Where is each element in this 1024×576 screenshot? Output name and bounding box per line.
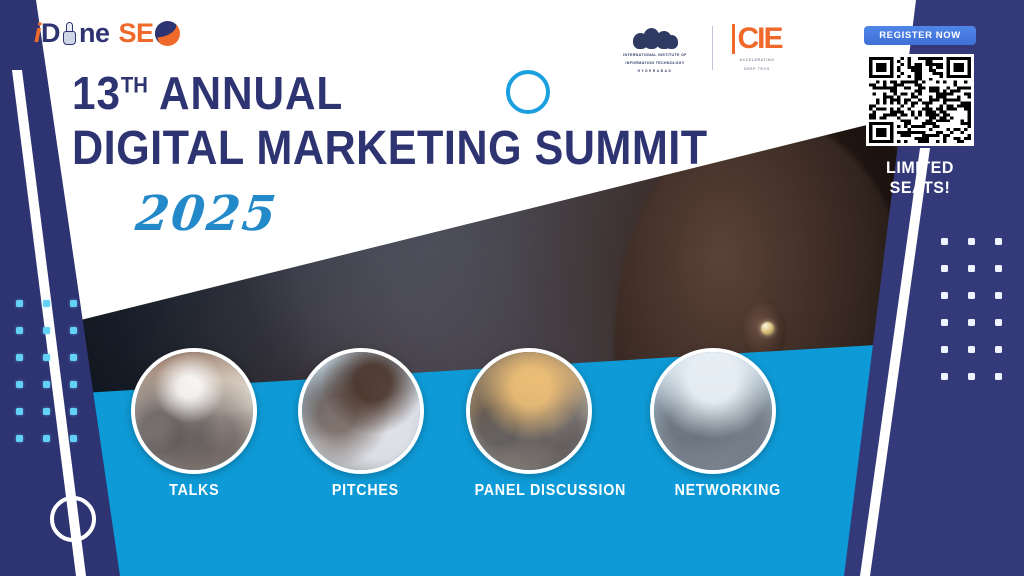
session-thumbnail-pitches[interactable] (298, 348, 424, 474)
headline-block: 13TH ANNUAL DIGITAL MARKETING SUMMIT (72, 70, 778, 173)
partner-cie-line1: ACCELERATING (727, 58, 787, 63)
globe-swoosh-icon (155, 21, 180, 46)
session-thumbnail-networking[interactable] (650, 348, 776, 474)
session-thumbnail-talks[interactable] (131, 348, 257, 474)
dot-grid-left (16, 300, 77, 442)
brand-logo-se: SE (119, 20, 154, 47)
partner-cie[interactable]: CIE ACCELERATING DEEP TECH (727, 24, 787, 73)
cie-logo-mark: CIE (732, 24, 781, 54)
networking-room-photo (654, 352, 772, 470)
partner-iiit-hyderabad[interactable]: INTERNATIONAL INSTITUTE OF INFORMATION T… (612, 24, 698, 73)
cie-logo-text: CIE (737, 24, 781, 54)
qr-code-canvas (869, 57, 971, 143)
qr-code-icon[interactable] (866, 54, 974, 146)
partner-divider (712, 26, 713, 70)
session-thumbnail-panel[interactable] (466, 348, 592, 474)
session-label-panel: PANEL DISCUSSION (475, 482, 626, 500)
headline-line-2: DIGITAL MARKETING SUMMIT (72, 125, 708, 173)
register-now-button[interactable]: REGISTER NOW (864, 26, 976, 45)
limited-seats-text: LIMITED SEATS! (862, 158, 979, 198)
headline-line-1: 13TH ANNUAL (72, 70, 722, 116)
audience-seated-photo (135, 352, 253, 470)
session-label-pitches: PITCHES (332, 482, 399, 500)
thumbs-up-icon (61, 22, 78, 45)
headline-ordinal: 13 (72, 67, 121, 119)
brand-logo[interactable]: i D ne SE (34, 20, 180, 47)
headline-ordinal-suffix: TH (121, 73, 148, 98)
white-ring-decoration (50, 496, 96, 542)
attendee-earring (761, 322, 774, 335)
event-banner: i D ne SE 13TH ANNUAL DIGITAL MARKETING … (0, 0, 1024, 576)
dot-grid-right (941, 238, 1002, 380)
panel-stage-photo (470, 352, 588, 470)
cie-accent-bar (732, 24, 735, 54)
iiit-building-icon (629, 24, 681, 50)
brand-logo-i: i (34, 20, 41, 47)
partner-iiit-line1: INTERNATIONAL INSTITUTE OF (612, 53, 698, 58)
brand-logo-d: D (41, 20, 60, 47)
partner-logos: INTERNATIONAL INSTITUTE OF INFORMATION T… (612, 24, 787, 73)
session-label-talks: TALKS (169, 482, 219, 500)
event-year: 2025 (133, 186, 280, 242)
partner-iiit-line2: INFORMATION TECHNOLOGY (612, 61, 698, 66)
headline-annual: ANNUAL (159, 67, 343, 119)
partner-cie-line2: DEEP TECH (727, 67, 787, 72)
speaker-microphone-photo (302, 352, 420, 470)
brand-logo-ne: ne (79, 20, 110, 47)
partner-iiit-line3: HYDERABAD (638, 69, 673, 73)
session-label-networking: NETWORKING (675, 482, 781, 500)
